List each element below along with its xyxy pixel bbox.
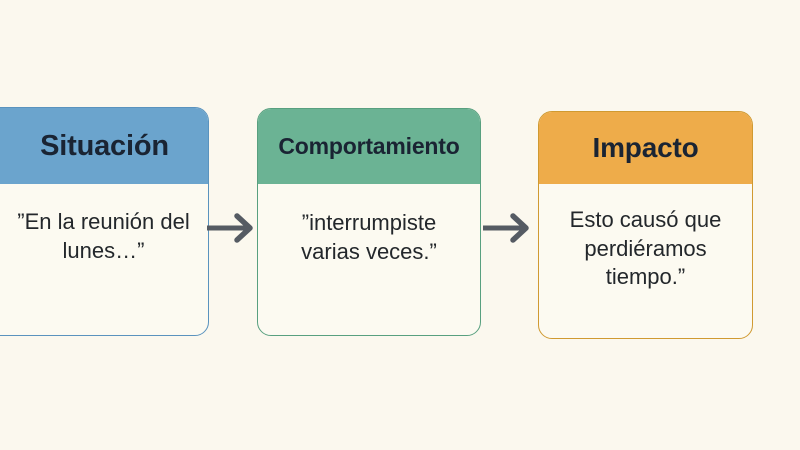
step-card-situacion[interactable]: Situación ”En la reunión del lunes…” [0,107,209,336]
step-body-text-comportamiento: ”interrumpiste varias veces.” [270,209,468,266]
step-card-comportamiento[interactable]: Comportamiento ”interrumpiste varias vec… [257,108,481,336]
arrow-right-icon [482,212,534,244]
step-body-text-impacto: Esto causó que perdiéramos tiempo.” [547,206,744,292]
step-header-situacion: Situación [0,108,208,184]
arrow-right-icon-1 [206,212,258,244]
step-body-text-situacion: ”En la reunión del lunes…” [11,208,196,265]
step-card-impacto[interactable]: Impacto Esto causó que perdiéramos tiemp… [538,111,753,339]
step-body-situacion: ”En la reunión del lunes…” [0,184,208,335]
diagram-canvas: Situación ”En la reunión del lunes…” Com… [0,0,800,450]
step-body-comportamiento: ”interrumpiste varias veces.” [258,184,480,335]
arrow-right-icon [206,212,258,244]
step-header-impacto: Impacto [539,112,752,184]
step-body-impacto: Esto causó que perdiéramos tiempo.” [539,184,752,338]
step-header-comportamiento: Comportamiento [258,109,480,184]
arrow-right-icon-2 [482,212,534,244]
